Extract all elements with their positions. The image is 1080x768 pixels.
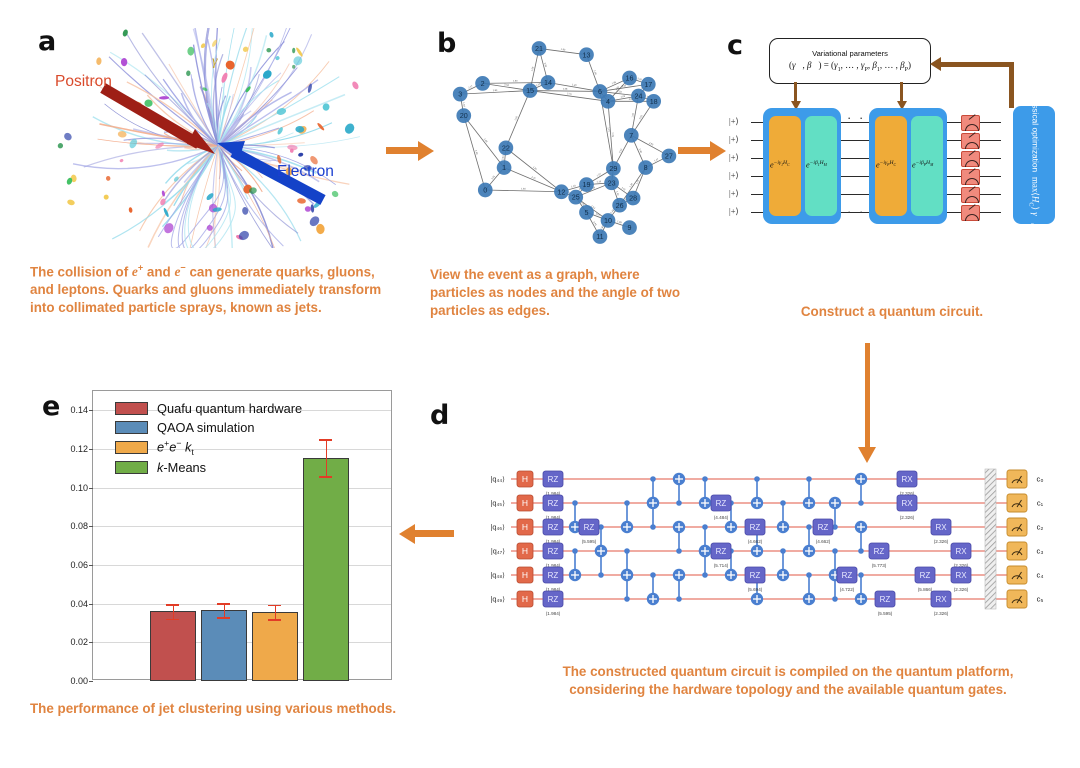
panel-label-a: a [38,28,56,55]
svg-text:RZ: RZ [750,571,761,580]
panel-a-collision-event: Positron Electron γ [55,28,385,248]
svg-text:RZ: RZ [818,523,829,532]
svg-text:RZ: RZ [716,499,727,508]
y-tick-label: 0.08 [70,521,88,531]
gamma-label: γ [212,54,218,70]
svg-text:4: 4 [606,98,610,106]
error-cap-3-1 [319,476,332,478]
ket-5: |+⟩ [729,206,739,217]
svg-text:|q₄₄⟩: |q₄₄⟩ [490,475,505,484]
caption-e: The performance of jet clustering using … [30,700,500,718]
variational-parameters-box: Variational parameters (γ⃗, β⃗) = (γ1, …… [769,38,931,84]
ket-1: |+⟩ [729,134,739,145]
caption-b: View the event as a graph, where particl… [430,266,680,319]
y-tick-mark [89,526,93,527]
panel-label-d: d [430,402,449,429]
svg-text:|q₄₈⟩: |q₄₈⟩ [490,571,505,580]
measurement-5 [961,205,980,221]
legend-item-3: k-Means [115,460,302,475]
positron-label: Positron [55,73,112,91]
variational-formula: (γ⃗, β⃗) = (γ1, … , γP, β1, … , βP) [789,60,911,73]
svg-text:RZ: RZ [880,595,891,604]
error-bar-3 [326,439,328,476]
svg-text:RZ: RZ [920,571,931,580]
feedback-line-vertical [1009,62,1014,108]
arrow-c-to-d [865,343,870,448]
y-tick-mark [89,565,93,566]
svg-text:RZ: RZ [584,523,595,532]
y-tick-mark [89,488,93,489]
caption-d: The constructed quantum circuit is compi… [548,663,1028,699]
svg-text:RZ: RZ [842,571,853,580]
svg-text:RZ: RZ [750,523,761,532]
svg-text:RZ: RZ [548,595,559,604]
svg-text:(4.722): (4.722) [840,587,855,592]
svg-text:(5.714): (5.714) [714,563,729,568]
panel-b-event-graph: 1.011.001.602.612.492.212.582.171.591.64… [425,35,705,250]
panel-label-e: e [42,393,60,420]
measurement-1 [961,133,980,149]
svg-text:12: 12 [557,188,565,196]
svg-text:c₀: c₀ [1037,475,1044,484]
event-graph: 1.011.001.602.612.492.212.582.171.591.64… [425,35,705,250]
bar-0 [150,611,196,681]
svg-text:(4.662): (4.662) [816,539,831,544]
legend-item-1: QAOA simulation [115,420,302,435]
gate-cost-1-label: e−iγ1HC [770,160,790,170]
error-cap-3-0 [319,439,332,441]
svg-text:0: 0 [483,187,487,195]
svg-text:H: H [522,498,528,508]
svg-text:(2.326): (2.326) [934,539,949,544]
svg-text:15: 15 [526,87,534,95]
svg-text:(2.326): (2.326) [934,611,949,616]
svg-text:(5.595): (5.595) [878,611,893,616]
svg-text:RX: RX [935,523,947,532]
ket-4: |+⟩ [729,188,739,199]
legend-swatch-qaoa [115,421,148,434]
svg-text:RX: RX [955,547,967,556]
arrow-a-to-b [386,147,419,154]
legend-swatch-eekt [115,441,148,454]
svg-text:11: 11 [596,233,603,241]
arrow-b-to-c [678,147,711,154]
error-bar-2 [275,605,277,619]
y-tick-mark [89,410,93,411]
measurement-0 [961,115,980,131]
legend-swatch-kmeans [115,461,148,474]
bar-3 [303,458,349,681]
svg-text:1.38: 1.38 [563,89,568,91]
measurement-2 [961,151,980,167]
qaoa-circuit-body: |+⟩ |+⟩ |+⟩ |+⟩ |+⟩ |+⟩ e−iγ1HC e−iβ1HM … [729,106,1055,224]
svg-text:1.80: 1.80 [493,90,498,92]
legend-item-0: Quafu quantum hardware [115,401,302,416]
svg-text:c₃: c₃ [1037,547,1044,556]
svg-text:19: 19 [583,181,591,189]
y-tick-mark [89,642,93,643]
svg-text:27: 27 [665,153,673,161]
electron-label: Electron [277,163,334,181]
legend-item-2: e+e− kt [115,438,302,457]
y-tick-label: 0.06 [70,560,88,570]
error-cap-1-1 [217,617,230,619]
classical-optimization-box: classical optimization max⟨HC⟩ γ⃗,β⃗ [1013,106,1055,224]
svg-text:13: 13 [583,51,591,59]
svg-text:20: 20 [460,112,468,120]
svg-text:14: 14 [544,79,552,87]
svg-text:3: 3 [458,91,462,99]
error-cap-1-0 [217,603,230,605]
variational-title: Variational parameters [812,49,888,58]
param-feed-arrow-1 [794,82,797,102]
feedback-line-horizontal [941,62,1013,67]
svg-text:1.59: 1.59 [513,81,518,83]
y-tick-mark [89,604,93,605]
svg-text:RZ: RZ [548,571,559,580]
legend-label-eekt: e+e− kt [157,438,194,457]
bar-1 [201,610,247,681]
svg-text:RX: RX [901,475,913,484]
svg-text:1.60: 1.60 [521,188,526,190]
svg-text:H: H [522,522,528,532]
y-tick-label: 0.12 [70,444,88,454]
svg-text:c₅: c₅ [1037,595,1044,604]
y-tick-label: 0.00 [70,676,88,686]
error-bar-1 [224,603,226,617]
svg-text:H: H [522,546,528,556]
svg-text:RZ: RZ [548,523,559,532]
chart-legend: Quafu quantum hardware QAOA simulation e… [115,401,302,475]
svg-text:(1.984): (1.984) [546,611,561,616]
svg-text:RZ: RZ [548,547,559,556]
svg-text:H: H [522,570,528,580]
svg-text:RZ: RZ [874,547,885,556]
compiled-quantum-circuit: |q₄₄⟩c₀|q₄₅⟩c₁|q₄₆⟩c₂|q₄₇⟩c₃|q₄₈⟩c₄|q₄₉⟩… [455,465,1055,640]
caption-a: The collision of e+ and e− can generate … [30,262,390,317]
svg-text:1.10: 1.10 [597,181,602,183]
svg-text:(5.595): (5.595) [582,539,597,544]
y-tick-label: 0.04 [70,599,88,609]
panel-e-bar-chart: Avg. angle (rad): jet and quark 0.000.02… [92,390,392,680]
measurement-3 [961,169,980,185]
svg-text:c₂: c₂ [1037,523,1044,532]
svg-text:RZ: RZ [548,475,559,484]
plot-area: 0.000.020.040.060.080.100.120.14 Quafu q… [92,390,392,680]
svg-text:(2.326): (2.326) [900,515,915,520]
measurement-4 [961,187,980,203]
ket-2: |+⟩ [729,152,739,163]
svg-text:17: 17 [644,81,652,89]
svg-text:|q₄₅⟩: |q₄₅⟩ [491,499,506,508]
y-tick-label: 0.10 [70,483,88,493]
feedback-arrowhead [930,57,941,71]
svg-text:(2.326): (2.326) [954,587,969,592]
svg-text:21: 21 [535,45,543,53]
y-tick-label: 0.02 [70,637,88,647]
svg-text:RZ: RZ [716,547,727,556]
svg-text:29: 29 [609,165,617,173]
svg-text:28: 28 [629,195,637,203]
y-tick-mark [89,449,93,450]
legend-label-qaoa: QAOA simulation [157,420,254,435]
svg-text:|q₄₆⟩: |q₄₆⟩ [490,523,505,532]
gate-mixer-1-label: e−iβ1HM [806,160,827,170]
svg-text:(4.484): (4.484) [714,515,729,520]
param-feed-arrow-2 [900,82,903,102]
svg-text:(5.694): (5.694) [748,587,763,592]
error-cap-0-0 [166,604,179,606]
svg-text:|q₄₉⟩: |q₄₉⟩ [491,595,506,604]
svg-text:H: H [522,474,528,484]
panel-c-qaoa-schematic: Variational parameters (γ⃗, β⃗) = (γ1, …… [725,38,1055,243]
svg-text:c₁: c₁ [1037,499,1044,508]
svg-text:25: 25 [572,194,580,202]
svg-text:22: 22 [502,144,510,152]
panel-d-compiled-circuit: |q₄₄⟩c₀|q₄₅⟩c₁|q₄₆⟩c₂|q₄₇⟩c₃|q₄₈⟩c₄|q₄₉⟩… [455,465,1055,640]
gate-mixer-p-label: e−iβPHM [912,160,933,170]
svg-text:(5.773): (5.773) [872,563,887,568]
caption-c: Construct a quantum circuit. [747,303,1037,321]
svg-text:(4.662): (4.662) [748,539,763,544]
collision-event-image [55,28,385,248]
svg-text:5: 5 [585,209,589,217]
svg-text:8: 8 [644,164,648,172]
svg-text:18: 18 [650,98,658,106]
legend-label-quafu: Quafu quantum hardware [157,401,302,416]
error-bar-0 [173,604,175,618]
svg-text:RX: RX [955,571,967,580]
ket-0: |+⟩ [729,116,739,127]
svg-text:10: 10 [604,217,612,225]
svg-text:16: 16 [626,75,634,83]
arrow-d-to-e [414,530,454,537]
error-cap-2-0 [268,605,281,607]
error-cap-0-1 [166,619,179,621]
svg-text:(5.866): (5.866) [918,587,933,592]
svg-text:9: 9 [628,224,632,232]
svg-text:RX: RX [935,595,947,604]
svg-text:24: 24 [634,93,642,101]
gate-cost-p-label: e−iγPHC [876,160,896,170]
y-tick-mark [89,681,93,682]
svg-text:6: 6 [598,88,602,96]
svg-text:2: 2 [481,80,485,88]
legend-label-kmeans: k-Means [157,460,206,475]
classical-optimization-text: classical optimization max⟨HC⟩ γ⃗,β⃗ [1028,106,1041,224]
svg-text:RZ: RZ [548,499,559,508]
legend-swatch-quafu [115,402,148,415]
svg-text:H: H [522,594,528,604]
svg-text:23: 23 [608,179,616,187]
svg-text:1: 1 [502,164,506,172]
svg-text:7: 7 [629,132,633,140]
svg-text:|q₄₇⟩: |q₄₇⟩ [491,547,505,556]
svg-text:2.29: 2.29 [611,132,613,137]
error-cap-2-1 [268,619,281,621]
bar-2 [252,612,298,681]
y-tick-label: 0.14 [70,405,88,415]
ket-3: |+⟩ [729,170,739,181]
ket-column: |+⟩ |+⟩ |+⟩ |+⟩ |+⟩ |+⟩ [729,106,751,224]
svg-text:c₄: c₄ [1037,571,1044,580]
svg-text:26: 26 [616,202,624,210]
svg-text:RX: RX [901,499,913,508]
